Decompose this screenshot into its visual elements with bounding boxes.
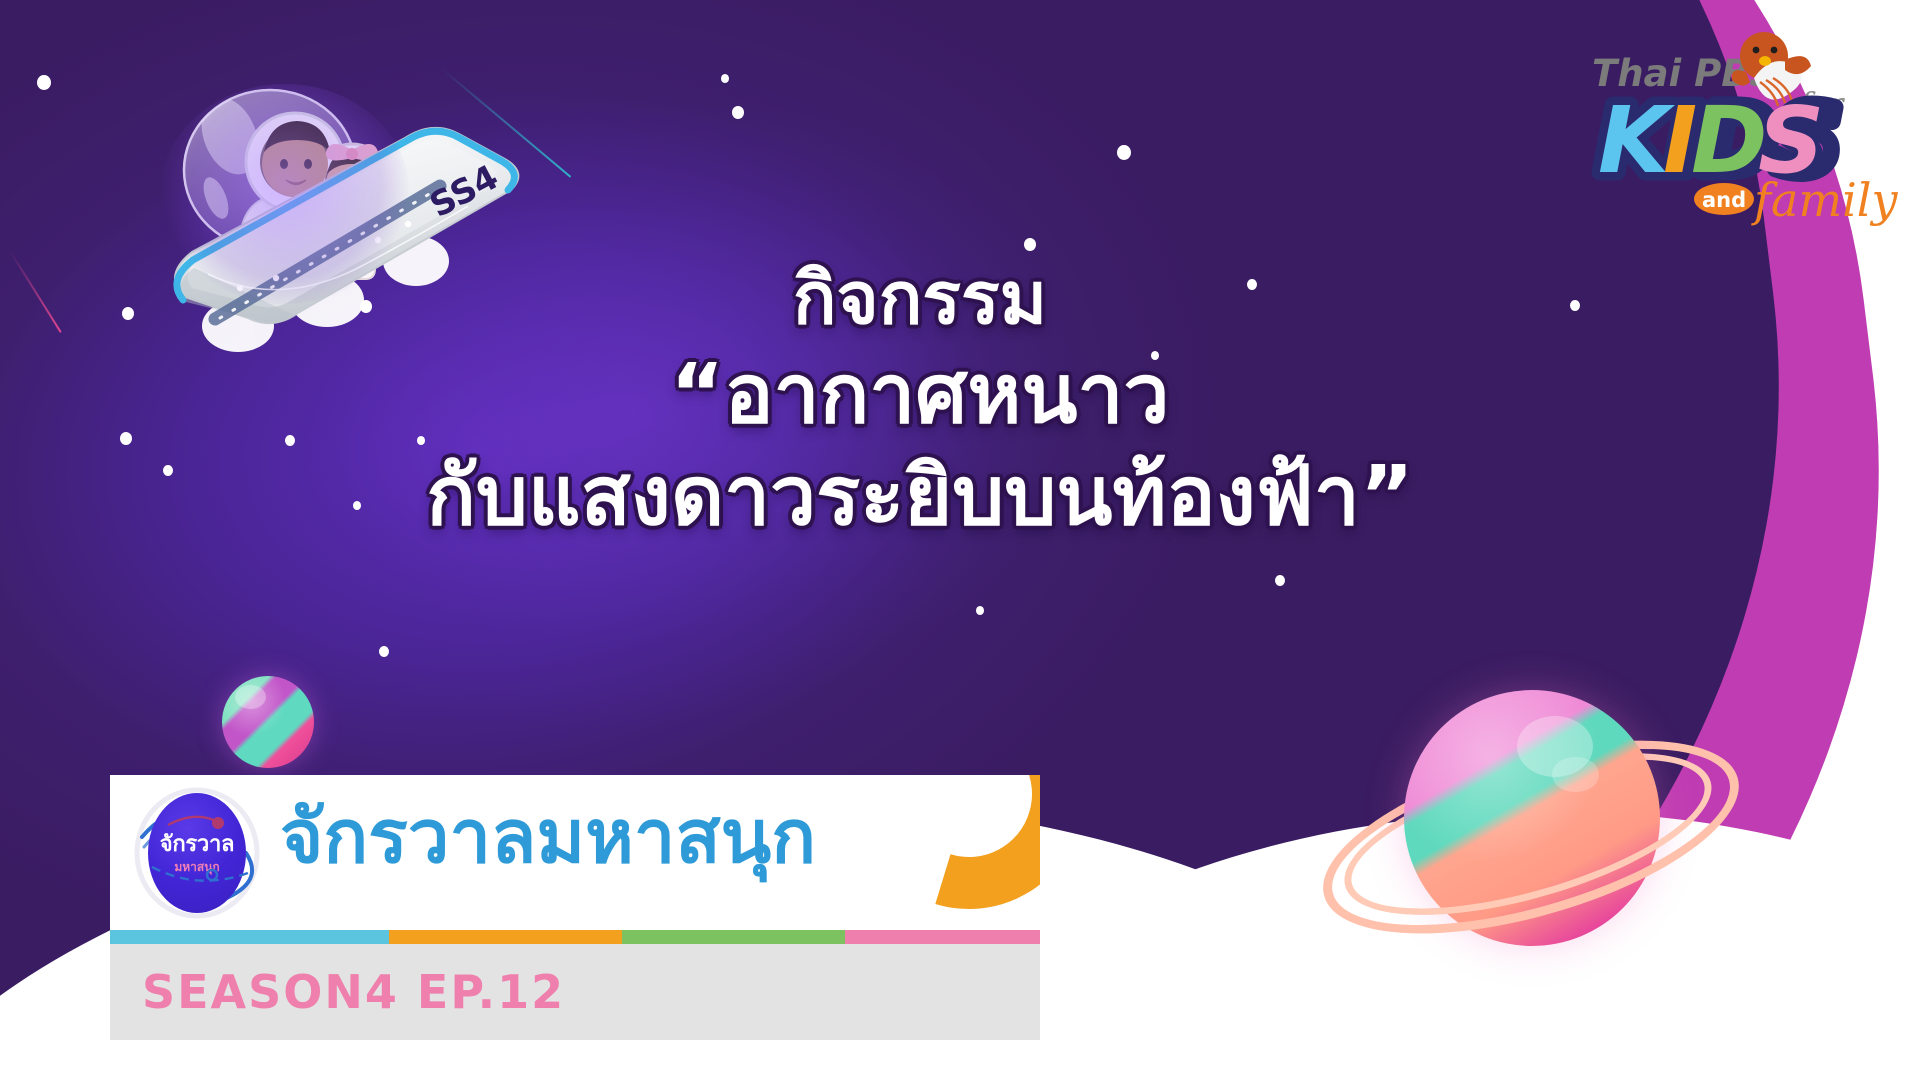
star [379, 646, 389, 657]
star [37, 75, 51, 90]
show-title: จักรวาลมหาสนุก [280, 791, 816, 884]
title-card: SS4 กิจกรรม “อากาศหนาว กับแสงดาวระยิบบนท… [0, 0, 1920, 1080]
star [1117, 145, 1131, 160]
star [1247, 279, 1257, 290]
thai-pbs-kids-logo-svg: Thai PBS for KIDS K [1586, 20, 1906, 230]
logo-family-word: family [1751, 173, 1898, 227]
star [721, 74, 729, 83]
logo-and-word: and [1702, 188, 1746, 212]
orange-swoosh-icon [813, 775, 1040, 930]
banner-bottom-gray: SEASON4 EP.12 [110, 944, 1040, 1040]
thai-pbs-kids-logo: Thai PBS for KIDS K [1586, 20, 1906, 230]
star [120, 432, 132, 445]
star [1151, 351, 1159, 360]
star [163, 465, 173, 476]
star [285, 435, 295, 446]
star [353, 501, 361, 510]
stripe-segment-1 [110, 930, 389, 944]
show-banner: จักรวาล มหาสนุก จักรวาลมหาสนุก SEASON4 E… [110, 775, 1040, 1040]
spaceship: SS4 [120, 78, 550, 358]
color-stripe [110, 930, 1040, 944]
small-planet [222, 676, 314, 768]
banner-top-white: จักรวาล มหาสนุก จักรวาลมหาสนุก [110, 775, 1040, 930]
star [732, 106, 744, 119]
show-badge: จักรวาล มหาสนุก [128, 785, 266, 923]
stripe-segment-4 [845, 930, 1040, 944]
star [1275, 575, 1285, 586]
season-episode-label: SEASON4 EP.12 [142, 965, 565, 1019]
star [1024, 238, 1036, 251]
star [417, 436, 425, 445]
stripe-segment-2 [389, 930, 622, 944]
badge-title: จักรวาล [160, 834, 234, 856]
stripe-segment-3 [622, 930, 845, 944]
badge-subtitle: มหาสนุก [174, 861, 219, 873]
star [976, 606, 984, 615]
shooting-star [9, 250, 62, 332]
spaceship-glow [160, 84, 410, 304]
ringed-planet [1316, 666, 1746, 996]
star [1570, 300, 1580, 311]
badge-circle: จักรวาล มหาสนุก [148, 793, 246, 913]
